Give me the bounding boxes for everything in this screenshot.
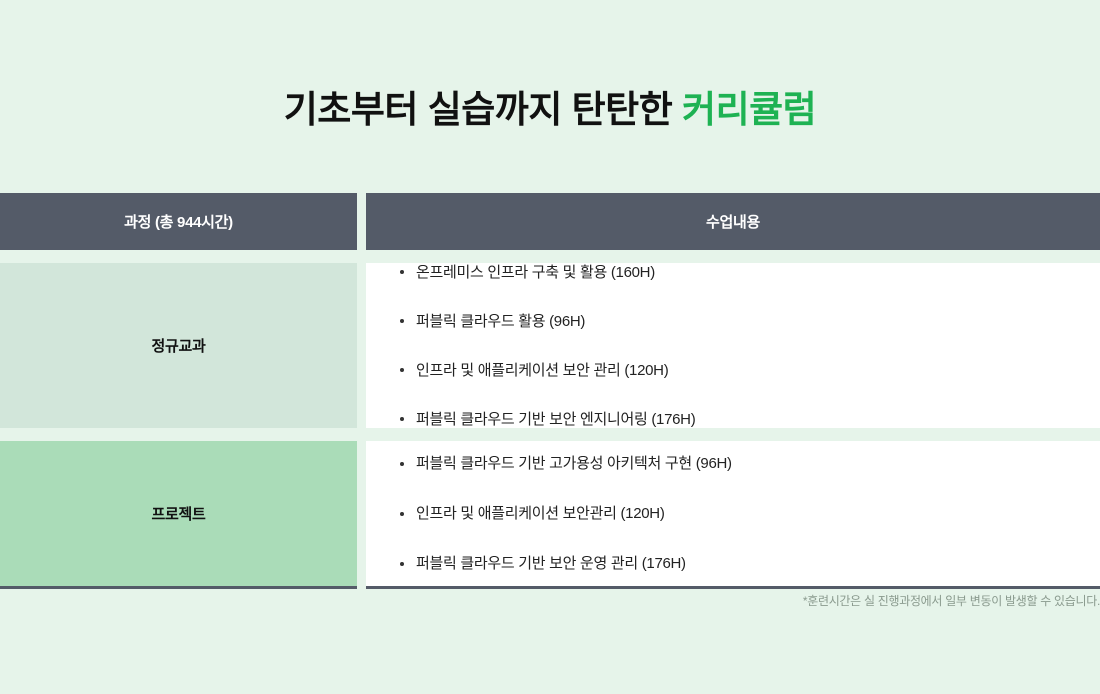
header-cell-content: 수업내용 — [366, 193, 1100, 250]
list-item: 인프라 및 애플리케이션 보안관리 (120H) — [398, 506, 1100, 521]
header-label-course: 과정 (총 944시간) — [124, 211, 233, 232]
row-gap — [0, 428, 1100, 441]
curriculum-table: 과정 (총 944시간) 수업내용 정규교과 온프레미스 인프라 구축 및 활용… — [0, 193, 1100, 589]
row-content-cell-project: 퍼블릭 클라우드 기반 고가용성 아키텍처 구현 (96H) 인프라 및 애플리… — [366, 441, 1100, 586]
table-bottom-border-right — [366, 586, 1100, 589]
page-title: 기초부터 실습까지 탄탄한 커리큘럼 — [0, 88, 1100, 132]
list-item: 인프라 및 애플리케이션 보안 관리 (120H) — [398, 363, 1100, 378]
list-item: 퍼블릭 클라우드 활용 (96H) — [398, 314, 1100, 329]
column-divider — [357, 263, 366, 428]
table-header-row: 과정 (총 944시간) 수업내용 — [0, 193, 1100, 250]
table-bottom-border — [0, 586, 1100, 589]
list-item: 퍼블릭 클라우드 기반 고가용성 아키텍처 구현 (96H) — [398, 456, 1100, 471]
list-item: 퍼블릭 클라우드 기반 보안 엔지니어링 (176H) — [398, 412, 1100, 427]
table-row: 정규교과 온프레미스 인프라 구축 및 활용 (160H) 퍼블릭 클라우드 활… — [0, 263, 1100, 428]
table-bottom-border-left — [0, 586, 357, 589]
table-row: 프로젝트 퍼블릭 클라우드 기반 고가용성 아키텍처 구현 (96H) 인프라 … — [0, 441, 1100, 586]
course-list-regular: 온프레미스 인프라 구축 및 활용 (160H) 퍼블릭 클라우드 활용 (96… — [398, 265, 1100, 427]
page-header: 기초부터 실습까지 탄탄한 커리큘럼 — [0, 0, 1100, 132]
page-title-plain: 기초부터 실습까지 탄탄한 — [284, 89, 682, 130]
table-bottom-border-gap — [357, 586, 366, 589]
column-divider — [357, 193, 366, 250]
list-item: 퍼블릭 클라우드 기반 보안 운영 관리 (176H) — [398, 556, 1100, 571]
page-title-accent: 커리큘럼 — [682, 89, 816, 130]
row-label-regular: 정규교과 — [151, 335, 205, 356]
row-label-cell-project: 프로젝트 — [0, 441, 357, 586]
footnote: *훈련시간은 실 진행과정에서 일부 변동이 발생할 수 있습니다. — [803, 592, 1100, 609]
row-content-cell-regular: 온프레미스 인프라 구축 및 활용 (160H) 퍼블릭 클라우드 활용 (96… — [366, 263, 1100, 428]
header-body-gap — [0, 250, 1100, 263]
column-divider — [357, 441, 366, 586]
row-label-project: 프로젝트 — [151, 503, 205, 524]
header-cell-course: 과정 (총 944시간) — [0, 193, 357, 250]
list-item: 온프레미스 인프라 구축 및 활용 (160H) — [398, 265, 1100, 280]
course-list-project: 퍼블릭 클라우드 기반 고가용성 아키텍처 구현 (96H) 인프라 및 애플리… — [398, 456, 1100, 571]
header-label-content: 수업내용 — [706, 211, 760, 232]
row-label-cell-regular: 정규교과 — [0, 263, 357, 428]
